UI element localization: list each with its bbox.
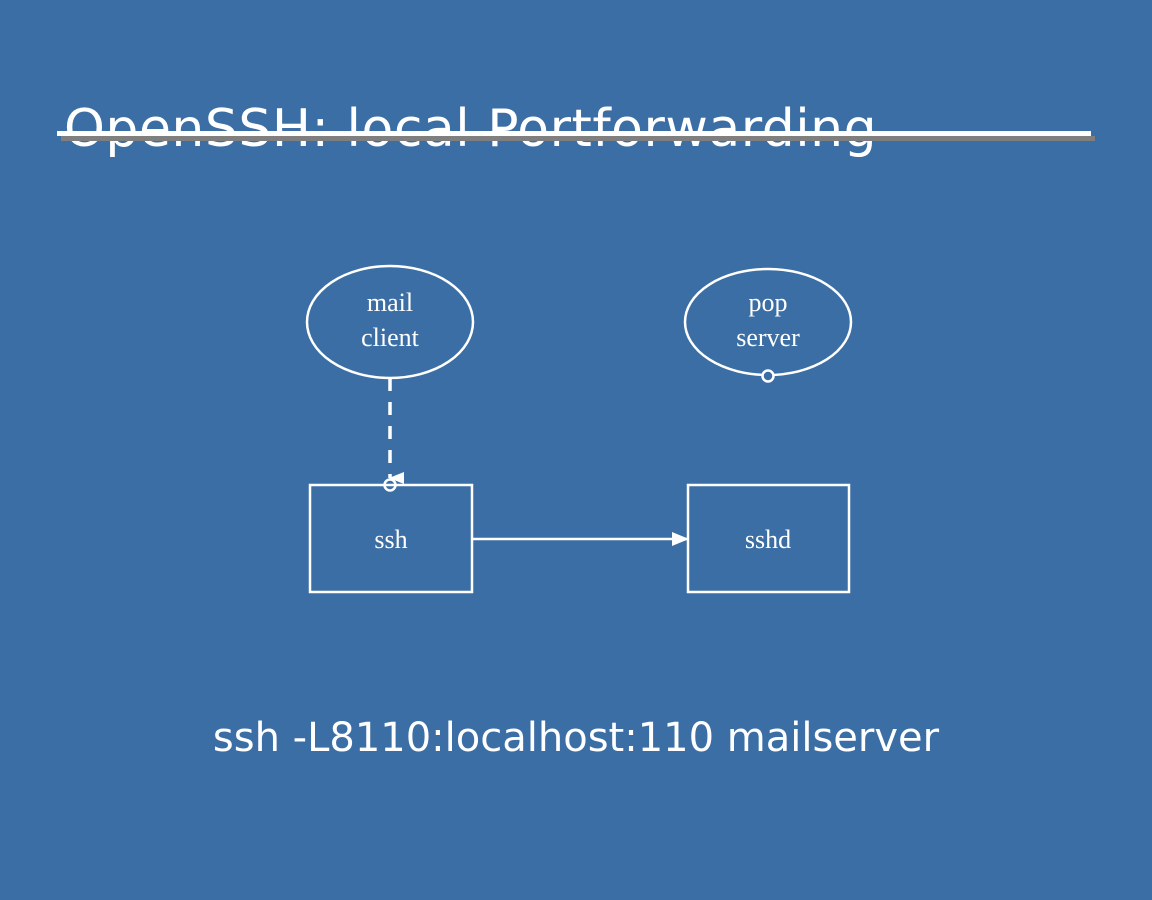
pop-server-ellipse	[685, 269, 851, 375]
pop-server-label-line2: server	[736, 323, 800, 352]
node-pop-server[interactable]: pop server	[685, 269, 851, 382]
node-ssh[interactable]: ssh	[310, 485, 472, 592]
mail-client-label-line1: mail	[367, 288, 413, 317]
edge-mail-client-to-ssh	[385, 378, 396, 491]
command-line-text: ssh -L8110:localhost:110 mailserver	[0, 710, 1152, 766]
node-mail-client[interactable]: mail client	[307, 266, 473, 378]
node-sshd[interactable]: sshd	[688, 485, 849, 592]
slide-canvas: OpenSSH: local Portforwarding mail clien…	[0, 0, 1152, 900]
mail-client-ellipse	[307, 266, 473, 378]
mail-client-label-line2: client	[361, 323, 420, 352]
ssh-label: ssh	[374, 525, 407, 554]
pop-server-port-dot	[763, 371, 774, 382]
sshd-label: sshd	[745, 525, 791, 554]
pop-server-label-line1: pop	[749, 288, 788, 317]
